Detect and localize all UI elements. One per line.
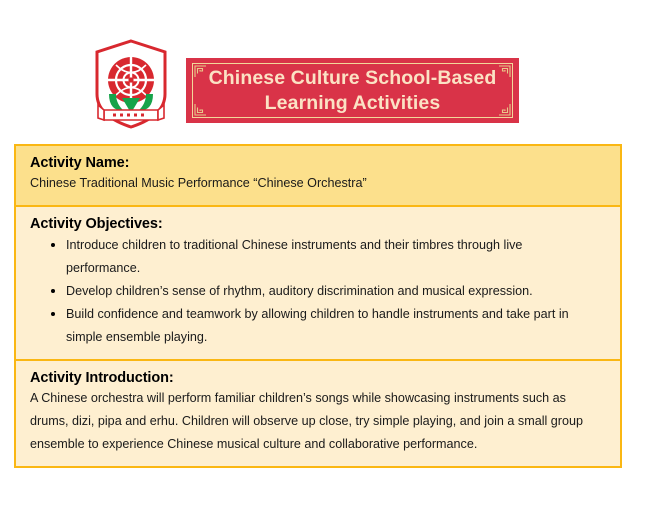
corner-ornament-icon <box>498 103 511 116</box>
section-activity-objectives: Activity Objectives: Introduce children … <box>16 207 620 361</box>
section-heading: Activity Objectives: <box>30 216 606 232</box>
activity-introduction-value: A Chinese orchestra will perform familia… <box>30 387 606 456</box>
activity-table: Activity Name: Chinese Traditional Music… <box>14 144 622 468</box>
section-heading: Activity Name: <box>30 155 606 171</box>
bullet-icon <box>51 312 55 316</box>
section-body: Chinese Traditional Music Performance “C… <box>30 172 606 195</box>
objectives-list: Introduce children to traditional Chines… <box>30 234 606 349</box>
list-item: Develop children’s sense of rhythm, audi… <box>66 280 606 303</box>
title-banner: Chinese Culture School-Based Learning Ac… <box>186 58 519 123</box>
page-header: Chinese Culture School-Based Learning Ac… <box>0 0 651 140</box>
activity-name-value: Chinese Traditional Music Performance “C… <box>30 172 606 195</box>
list-item-label: Build confidence and teamwork by allowin… <box>66 307 569 344</box>
section-heading: Activity Introduction: <box>30 370 606 386</box>
list-item-label: Introduce children to traditional Chines… <box>66 238 522 275</box>
list-item-label: Develop children’s sense of rhythm, audi… <box>66 284 533 298</box>
bullet-icon <box>51 243 55 247</box>
list-item: Build confidence and teamwork by allowin… <box>66 303 606 349</box>
corner-ornament-icon <box>194 65 207 78</box>
section-body: A Chinese orchestra will perform familia… <box>30 387 606 456</box>
list-item: Introduce children to traditional Chines… <box>66 234 606 280</box>
corner-ornament-icon <box>498 65 511 78</box>
page-title: Chinese Culture School-Based Learning Ac… <box>208 66 497 116</box>
section-activity-introduction: Activity Introduction: A Chinese orchest… <box>16 361 620 466</box>
school-crest-logo <box>92 38 170 130</box>
corner-ornament-icon <box>194 103 207 116</box>
section-activity-name: Activity Name: Chinese Traditional Music… <box>16 146 620 207</box>
bullet-icon <box>51 289 55 293</box>
